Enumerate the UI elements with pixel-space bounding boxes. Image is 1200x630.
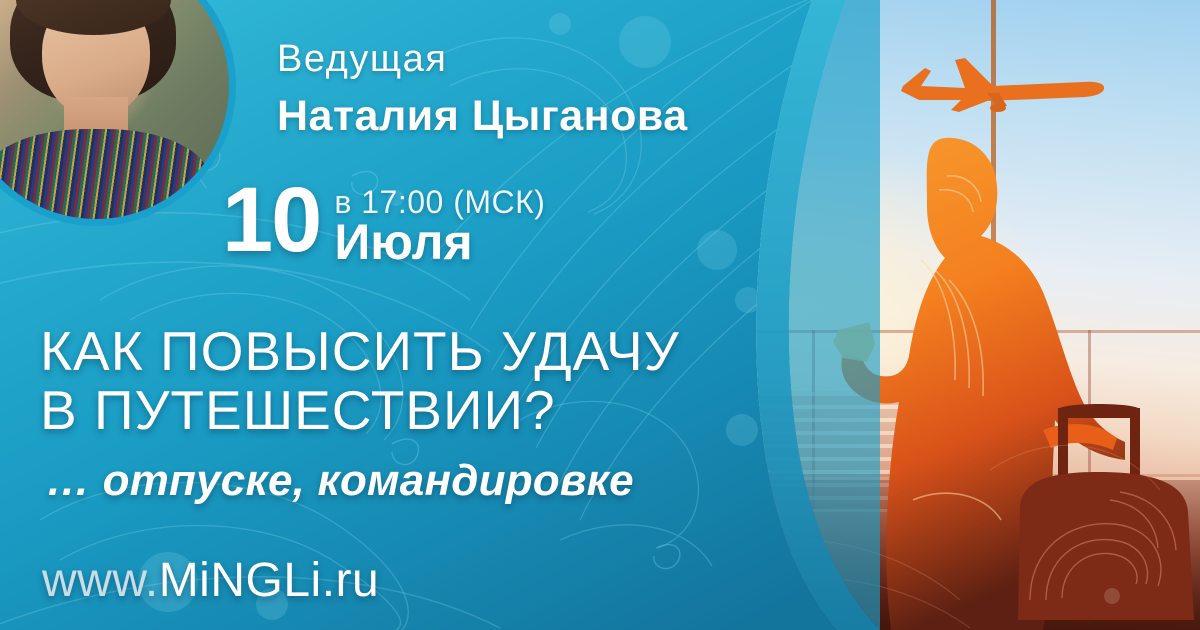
headline-subtitle: … отпуске, командировке: [46, 456, 634, 506]
headline: КАК ПОВЫСИТЬ УДАЧУ В ПУТЕШЕСТВИИ?: [40, 322, 730, 441]
host-label: Ведущая: [277, 38, 447, 81]
avatar-shirt: [0, 129, 209, 220]
host-name: Наталия Цыганова: [277, 92, 688, 141]
avatar: [0, 0, 230, 220]
event-date-block: 10 в 17:00 (МСК) Июля: [222, 178, 545, 268]
headline-line-2: В ПУТЕШЕСТВИИ?: [40, 381, 730, 440]
site-url[interactable]: www.MiNGLi.ru: [42, 553, 379, 608]
event-date-details: в 17:00 (МСК) Июля: [334, 178, 545, 268]
site-url-prefix: www.: [42, 554, 159, 607]
site-url-name: MiNGLi.ru: [159, 554, 380, 607]
webinar-banner: Ведущая Наталия Цыганова 10 в 17:00 (МСК…: [0, 0, 1200, 630]
avatar-photo: [0, 0, 230, 220]
headline-line-1: КАК ПОВЫСИТЬ УДАЧУ: [40, 322, 730, 381]
event-month: Июля: [334, 217, 545, 268]
event-day: 10: [222, 178, 320, 263]
